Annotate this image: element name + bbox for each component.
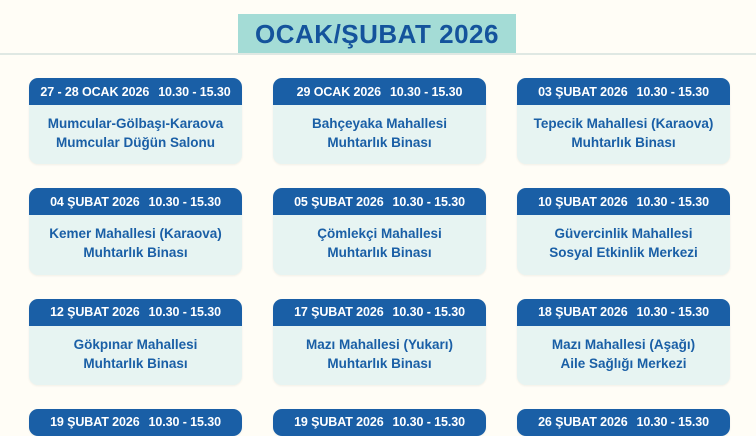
card-body: Bahçeyaka Mahallesi Muhtarlık Binası: [273, 105, 486, 164]
card-header: 18 ŞUBAT 2026 10.30 - 15.30: [517, 299, 730, 326]
card-location-line2: Muhtarlık Binası: [523, 133, 724, 152]
card-location-line2: Muhtarlık Binası: [35, 243, 236, 262]
card-time: 10.30 - 15.30: [637, 85, 709, 99]
card-location-line2: Sosyal Etkinlik Merkezi: [523, 243, 724, 262]
card-location-line1: Bahçeyaka Mahallesi: [279, 114, 480, 133]
card-location-line2: Muhtarlık Binası: [279, 133, 480, 152]
page-header: OCAK/ŞUBAT 2026: [0, 0, 756, 56]
card-header: 10 ŞUBAT 2026 10.30 - 15.30: [517, 188, 730, 215]
card-header: 19 ŞUBAT 2026 10.30 - 15.30: [273, 409, 486, 436]
card-location-line2: Muhtarlık Binası: [279, 243, 480, 262]
card-body: Tepecik Mahallesi (Karaova) Muhtarlık Bi…: [517, 105, 730, 164]
card-location-line1: Mazı Mahallesi (Aşağı): [523, 335, 724, 354]
card-date: 19 ŞUBAT 2026: [294, 415, 383, 429]
card-time: 10.30 - 15.30: [390, 85, 462, 99]
card-date: 18 ŞUBAT 2026: [538, 305, 627, 319]
card-time: 10.30 - 15.30: [637, 305, 709, 319]
schedule-card[interactable]: 17 ŞUBAT 2026 10.30 - 15.30 Mazı Mahalle…: [273, 299, 486, 385]
card-location-line1: Güvercinlik Mahallesi: [523, 224, 724, 243]
card-location-line2: Muhtarlık Binası: [279, 354, 480, 373]
card-date: 29 OCAK 2026: [297, 85, 381, 99]
card-date: 05 ŞUBAT 2026: [294, 195, 383, 209]
card-header: 04 ŞUBAT 2026 10.30 - 15.30: [29, 188, 242, 215]
card-body: Çömlekçi Mahallesi Muhtarlık Binası: [273, 215, 486, 274]
title-banner: OCAK/ŞUBAT 2026: [238, 14, 516, 53]
card-header: 19 ŞUBAT 2026 10.30 - 15.30: [29, 409, 242, 436]
card-time: 10.30 - 15.30: [393, 305, 465, 319]
card-time: 10.30 - 15.30: [637, 195, 709, 209]
card-body: Güvercinlik Mahallesi Sosyal Etkinlik Me…: [517, 215, 730, 274]
card-body: Mazı Mahallesi (Yukarı) Muhtarlık Binası: [273, 326, 486, 385]
schedule-card[interactable]: 12 ŞUBAT 2026 10.30 - 15.30 Gökpınar Mah…: [29, 299, 242, 385]
schedule-card[interactable]: 27 - 28 OCAK 2026 10.30 - 15.30 Mumcular…: [29, 78, 242, 164]
card-time: 10.30 - 15.30: [158, 85, 230, 99]
card-location-line1: Mazı Mahallesi (Yukarı): [279, 335, 480, 354]
card-body: Mumcular-Gölbaşı-Karaova Mumcular Düğün …: [29, 105, 242, 164]
card-date: 04 ŞUBAT 2026: [50, 195, 139, 209]
schedule-card[interactable]: 18 ŞUBAT 2026 10.30 - 15.30 Mazı Mahalle…: [517, 299, 730, 385]
card-location-line1: Gökpınar Mahallesi: [35, 335, 236, 354]
card-header: 03 ŞUBAT 2026 10.30 - 15.30: [517, 78, 730, 105]
card-header: 12 ŞUBAT 2026 10.30 - 15.30: [29, 299, 242, 326]
card-location-line2: Aile Sağlığı Merkezi: [523, 354, 724, 373]
card-location-line2: Mumcular Düğün Salonu: [35, 133, 236, 152]
card-time: 10.30 - 15.30: [149, 195, 221, 209]
page-title: OCAK/ŞUBAT 2026: [255, 21, 499, 47]
schedule-card[interactable]: 05 ŞUBAT 2026 10.30 - 15.30 Çömlekçi Mah…: [273, 188, 486, 274]
card-date: 10 ŞUBAT 2026: [538, 195, 627, 209]
card-body: Mazı Mahallesi (Aşağı) Aile Sağlığı Merk…: [517, 326, 730, 385]
card-header: 05 ŞUBAT 2026 10.30 - 15.30: [273, 188, 486, 215]
card-location-line2: Muhtarlık Binası: [35, 354, 236, 373]
schedule-card[interactable]: 19 ŞUBAT 2026 10.30 - 15.30: [273, 409, 486, 436]
schedule-card[interactable]: 29 OCAK 2026 10.30 - 15.30 Bahçeyaka Mah…: [273, 78, 486, 164]
card-time: 10.30 - 15.30: [393, 195, 465, 209]
card-date: 26 ŞUBAT 2026: [538, 415, 627, 429]
card-body: Gökpınar Mahallesi Muhtarlık Binası: [29, 326, 242, 385]
schedule-card[interactable]: 04 ŞUBAT 2026 10.30 - 15.30 Kemer Mahall…: [29, 188, 242, 274]
card-header: 29 OCAK 2026 10.30 - 15.30: [273, 78, 486, 105]
card-date: 27 - 28 OCAK 2026: [40, 85, 149, 99]
card-location-line1: Tepecik Mahallesi (Karaova): [523, 114, 724, 133]
card-date: 12 ŞUBAT 2026: [50, 305, 139, 319]
card-header: 27 - 28 OCAK 2026 10.30 - 15.30: [29, 78, 242, 105]
card-date: 19 ŞUBAT 2026: [50, 415, 139, 429]
schedule-card[interactable]: 26 ŞUBAT 2026 10.30 - 15.30: [517, 409, 730, 436]
card-time: 10.30 - 15.30: [393, 415, 465, 429]
card-time: 10.30 - 15.30: [637, 415, 709, 429]
schedule-card[interactable]: 19 ŞUBAT 2026 10.30 - 15.30: [29, 409, 242, 436]
card-location-line1: Mumcular-Gölbaşı-Karaova: [35, 114, 236, 133]
schedule-card[interactable]: 10 ŞUBAT 2026 10.30 - 15.30 Güvercinlik …: [517, 188, 730, 274]
schedule-grid: 27 - 28 OCAK 2026 10.30 - 15.30 Mumcular…: [29, 78, 727, 436]
card-location-line1: Çömlekçi Mahallesi: [279, 224, 480, 243]
schedule-card[interactable]: 03 ŞUBAT 2026 10.30 - 15.30 Tepecik Maha…: [517, 78, 730, 164]
card-header: 26 ŞUBAT 2026 10.30 - 15.30: [517, 409, 730, 436]
card-date: 17 ŞUBAT 2026: [294, 305, 383, 319]
card-header: 17 ŞUBAT 2026 10.30 - 15.30: [273, 299, 486, 326]
card-time: 10.30 - 15.30: [149, 415, 221, 429]
card-body: Kemer Mahallesi (Karaova) Muhtarlık Bina…: [29, 215, 242, 274]
card-location-line1: Kemer Mahallesi (Karaova): [35, 224, 236, 243]
header-divider: [0, 53, 756, 55]
card-time: 10.30 - 15.30: [149, 305, 221, 319]
card-date: 03 ŞUBAT 2026: [538, 85, 627, 99]
